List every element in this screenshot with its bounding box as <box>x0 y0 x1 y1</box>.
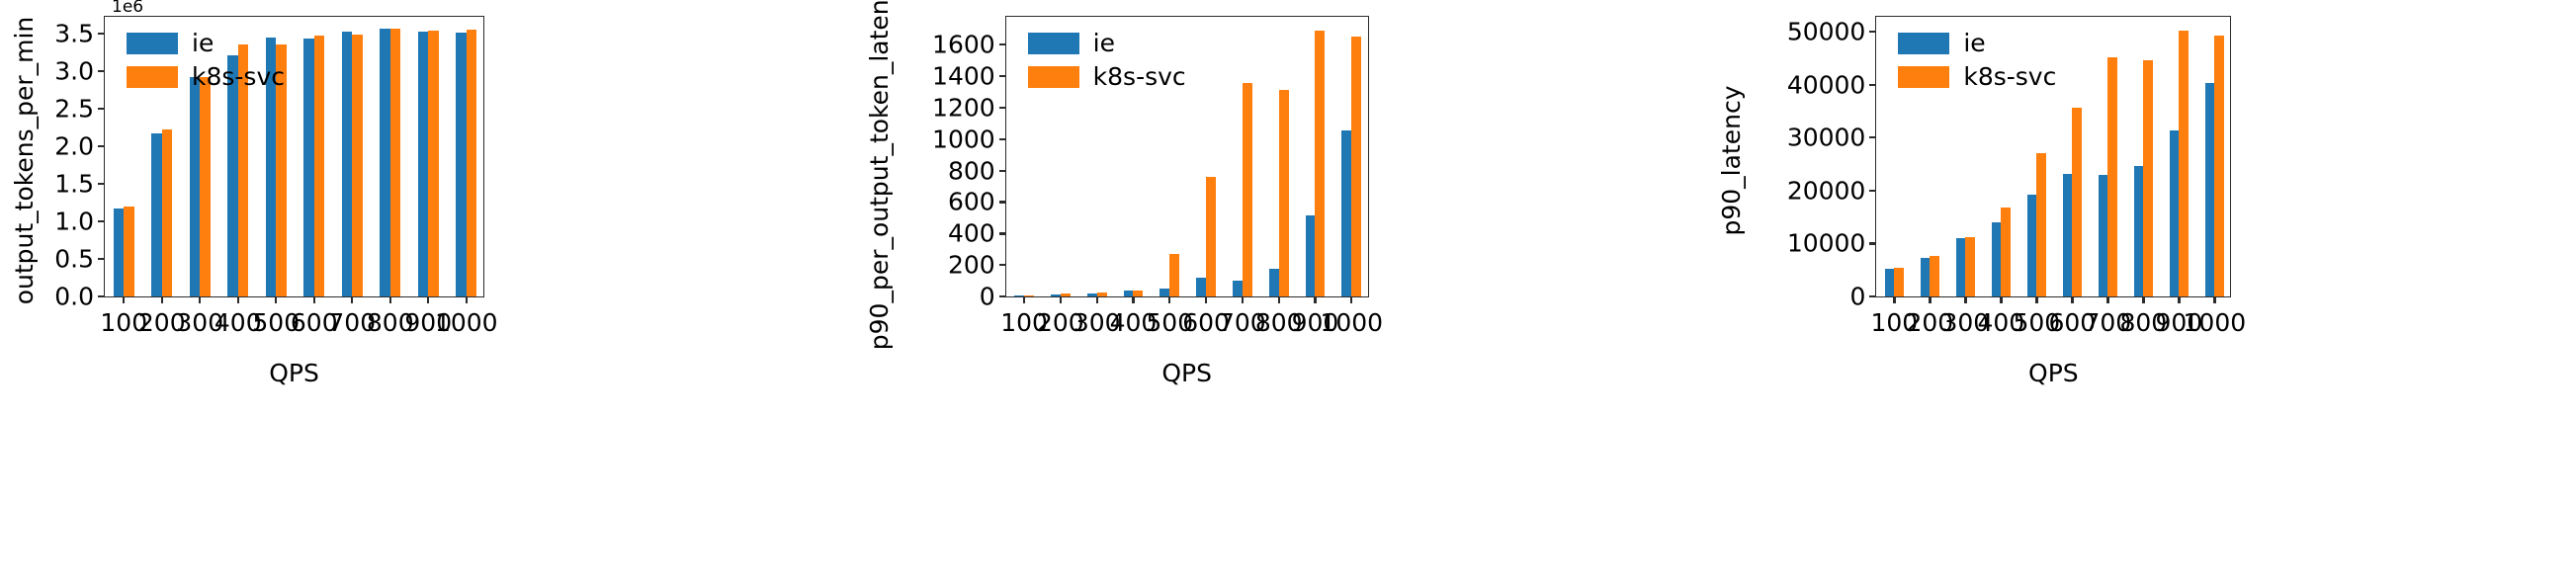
bar-ie-1000 <box>1341 130 1351 296</box>
y-tick-label: 1000 <box>932 125 995 153</box>
bar-k8s-svc-300 <box>1965 237 1975 296</box>
legend-swatch-k8s-svc-icon <box>127 66 178 88</box>
bar-k8s-svc-400 <box>2001 208 2011 296</box>
subplot-p90-latency: p90_latency 0100002000030000400005000010… <box>1717 0 2576 585</box>
x-tick-mark <box>1060 296 1062 303</box>
y-tick-label: 200 <box>948 251 995 280</box>
y-tick-label: 1600 <box>932 31 995 59</box>
legend-swatch-k8s-svc-icon <box>1028 66 1079 88</box>
legend-entry-k8s-svc: k8s-svc <box>127 64 285 89</box>
y-tick-mark <box>999 75 1006 77</box>
legend-2: ie k8s-svc <box>1028 31 1186 89</box>
x-tick-label: 1000 <box>1320 308 1383 337</box>
bar-ie-100 <box>1885 269 1895 296</box>
figure-bar-chart-panel: output_tokens_per_min 1e6 0.00.51.01.52.… <box>0 0 2576 585</box>
bar-k8s-svc-300 <box>1097 292 1107 296</box>
y-tick-label: 400 <box>948 219 995 248</box>
x-tick-mark <box>2000 296 2002 303</box>
bar-ie-1000 <box>456 33 466 296</box>
x-tick-mark <box>1350 296 1352 303</box>
legend-entry-ie: ie <box>1028 31 1186 55</box>
y-tick-label: 0.5 <box>54 245 94 274</box>
bar-ie-500 <box>2027 195 2037 296</box>
plot-area-1: 0.00.51.01.52.02.53.03.51002003004005006… <box>104 16 484 297</box>
y-tick-mark <box>999 170 1006 172</box>
y-tick-label: 0 <box>980 283 995 311</box>
bar-k8s-svc-200 <box>1930 256 1939 296</box>
bar-ie-400 <box>1124 291 1134 296</box>
x-tick-mark <box>1929 296 1931 303</box>
legend-entry-ie: ie <box>1898 31 2056 55</box>
y-tick-mark <box>999 138 1006 140</box>
bar-ie-800 <box>1269 269 1279 296</box>
y-axis-label-2: p90_per_output_token_latency <box>865 0 894 410</box>
bar-k8s-svc-600 <box>1206 177 1216 296</box>
y-tick-label: 2.5 <box>54 95 94 124</box>
x-tick-label: 1000 <box>435 308 498 337</box>
legend-entry-ie: ie <box>127 31 285 55</box>
bar-k8s-svc-800 <box>1279 90 1289 296</box>
bar-ie-800 <box>380 29 389 296</box>
bar-k8s-svc-700 <box>352 35 362 296</box>
bar-k8s-svc-100 <box>124 207 133 296</box>
y-tick-label: 3.5 <box>54 20 94 48</box>
y-tick-mark <box>1869 190 1876 192</box>
y-tick-mark <box>999 43 1006 45</box>
bar-ie-400 <box>1992 222 2002 296</box>
legend-swatch-ie-icon <box>1028 33 1079 54</box>
x-tick-mark <box>1132 296 1134 303</box>
x-tick-mark <box>161 296 163 303</box>
legend-label-ie: ie <box>192 31 214 55</box>
bar-ie-900 <box>1306 215 1316 296</box>
legend-label-k8s-svc: k8s-svc <box>1963 64 2056 89</box>
bar-ie-300 <box>190 77 200 296</box>
bar-ie-300 <box>1956 238 1966 296</box>
x-tick-mark <box>1314 296 1316 303</box>
x-tick-mark <box>1242 296 1244 303</box>
legend-entry-k8s-svc: k8s-svc <box>1898 64 2056 89</box>
y-tick-label: 1.0 <box>54 208 94 236</box>
y-tick-label: 2.0 <box>54 132 94 161</box>
y-tick-label: 40000 <box>1787 70 1866 99</box>
bar-ie-700 <box>2099 175 2108 296</box>
y-tick-mark <box>999 107 1006 109</box>
y-tick-mark <box>98 108 105 110</box>
y-tick-mark <box>98 258 105 260</box>
x-tick-label: 1000 <box>2184 308 2247 337</box>
y-axis-offset-text-1: 1e6 <box>112 0 143 17</box>
bar-k8s-svc-1000 <box>467 30 476 296</box>
bar-k8s-svc-600 <box>2072 108 2082 296</box>
y-tick-label: 600 <box>948 188 995 216</box>
y-tick-mark <box>98 70 105 72</box>
y-tick-mark <box>98 33 105 35</box>
y-axis-label-3: p90_latency <box>1717 0 1746 410</box>
legend-label-k8s-svc: k8s-svc <box>1093 64 1186 89</box>
legend-1: ie k8s-svc <box>127 31 285 89</box>
y-tick-mark <box>999 295 1006 297</box>
x-axis-label-1: QPS <box>269 359 319 387</box>
bar-k8s-svc-300 <box>200 77 210 296</box>
bar-k8s-svc-800 <box>2143 60 2153 296</box>
y-tick-label: 0.0 <box>54 283 94 311</box>
x-tick-mark <box>2178 296 2180 303</box>
x-tick-mark <box>389 296 391 303</box>
y-tick-mark <box>999 201 1006 203</box>
bar-ie-700 <box>1233 281 1243 296</box>
bar-ie-200 <box>1051 294 1061 296</box>
bar-ie-600 <box>1196 278 1206 296</box>
x-tick-mark <box>1205 296 1207 303</box>
legend-swatch-ie-icon <box>1898 33 1949 54</box>
y-tick-mark <box>999 264 1006 266</box>
bar-k8s-svc-200 <box>162 129 172 296</box>
x-tick-mark <box>1096 296 1098 303</box>
y-tick-mark <box>1869 84 1876 86</box>
y-tick-label: 0 <box>1849 283 1865 311</box>
bar-ie-400 <box>227 55 237 296</box>
bar-ie-200 <box>151 133 161 296</box>
x-tick-mark <box>1168 296 1170 303</box>
y-tick-mark <box>98 295 105 297</box>
x-tick-mark <box>237 296 239 303</box>
x-axis-label-2: QPS <box>1161 359 1212 387</box>
bar-k8s-svc-200 <box>1061 293 1071 296</box>
bar-k8s-svc-500 <box>2036 153 2046 296</box>
bar-k8s-svc-600 <box>314 36 324 296</box>
bar-ie-600 <box>2063 174 2073 296</box>
x-tick-mark <box>123 296 125 303</box>
bar-k8s-svc-800 <box>390 29 400 296</box>
x-tick-mark <box>466 296 468 303</box>
legend-entry-k8s-svc: k8s-svc <box>1028 64 1186 89</box>
x-tick-mark <box>2213 296 2215 303</box>
bar-k8s-svc-900 <box>2179 31 2189 296</box>
bar-ie-700 <box>342 32 352 296</box>
y-tick-mark <box>98 145 105 147</box>
y-tick-label: 800 <box>948 156 995 185</box>
y-tick-label: 1.5 <box>54 170 94 199</box>
y-tick-label: 1400 <box>932 62 995 91</box>
bar-ie-900 <box>418 32 428 296</box>
bar-ie-100 <box>1014 295 1024 296</box>
x-tick-mark <box>313 296 315 303</box>
bar-k8s-svc-1000 <box>2214 36 2224 296</box>
x-tick-mark <box>2142 296 2144 303</box>
bar-k8s-svc-900 <box>428 31 438 296</box>
y-tick-mark <box>1869 295 1876 297</box>
y-tick-label: 20000 <box>1787 176 1866 205</box>
bar-k8s-svc-1000 <box>1351 37 1361 296</box>
bar-k8s-svc-100 <box>1894 268 1904 296</box>
subplot-p90-per-output-token-latency: p90_per_output_token_latency 02004006008… <box>859 0 1718 585</box>
y-axis-label-1: output_tokens_per_min <box>10 0 39 410</box>
x-tick-mark <box>1023 296 1025 303</box>
x-tick-mark <box>351 296 353 303</box>
bar-ie-900 <box>2170 130 2180 296</box>
y-tick-mark <box>999 232 1006 234</box>
bar-k8s-svc-700 <box>2107 57 2117 296</box>
y-tick-mark <box>98 183 105 185</box>
x-tick-mark <box>1278 296 1280 303</box>
bar-ie-100 <box>114 209 124 296</box>
bar-ie-1000 <box>2205 83 2215 296</box>
legend-label-ie: ie <box>1093 31 1115 55</box>
bar-ie-800 <box>2134 166 2144 296</box>
x-tick-mark <box>2035 296 2037 303</box>
x-tick-mark <box>1964 296 1966 303</box>
x-tick-mark <box>2106 296 2108 303</box>
x-axis-label-3: QPS <box>2028 359 2079 387</box>
y-tick-label: 3.0 <box>54 57 94 86</box>
y-tick-label: 30000 <box>1787 124 1866 152</box>
bar-k8s-svc-900 <box>1315 31 1325 296</box>
legend-swatch-ie-icon <box>127 33 178 54</box>
legend-swatch-k8s-svc-icon <box>1898 66 1949 88</box>
x-tick-mark <box>2071 296 2073 303</box>
bar-k8s-svc-400 <box>1133 291 1143 296</box>
plot-area-2: 0200400600800100012001400160010020030040… <box>1005 16 1369 297</box>
bar-ie-600 <box>303 39 313 296</box>
x-tick-mark <box>199 296 201 303</box>
legend-label-k8s-svc: k8s-svc <box>192 64 285 89</box>
bar-ie-200 <box>1921 258 1931 296</box>
y-tick-label: 1200 <box>932 93 995 122</box>
y-tick-mark <box>98 220 105 222</box>
legend-3: ie k8s-svc <box>1898 31 2056 89</box>
bar-ie-300 <box>1087 293 1097 297</box>
y-tick-mark <box>1869 31 1876 33</box>
bar-ie-500 <box>1159 289 1169 296</box>
subplot-output-tokens-per-min: output_tokens_per_min 1e6 0.00.51.01.52.… <box>0 0 859 585</box>
y-tick-label: 10000 <box>1787 229 1866 258</box>
bar-k8s-svc-500 <box>1169 254 1179 296</box>
bar-k8s-svc-700 <box>1243 83 1252 296</box>
y-tick-mark <box>1869 242 1876 244</box>
x-tick-mark <box>1893 296 1895 303</box>
plot-area-3: 0100002000030000400005000010020030040050… <box>1875 16 2231 297</box>
y-tick-mark <box>1869 136 1876 138</box>
x-tick-mark <box>427 296 429 303</box>
legend-label-ie: ie <box>1963 31 1985 55</box>
bar-k8s-svc-100 <box>1024 295 1034 296</box>
y-tick-label: 50000 <box>1787 18 1866 46</box>
x-tick-mark <box>275 296 277 303</box>
